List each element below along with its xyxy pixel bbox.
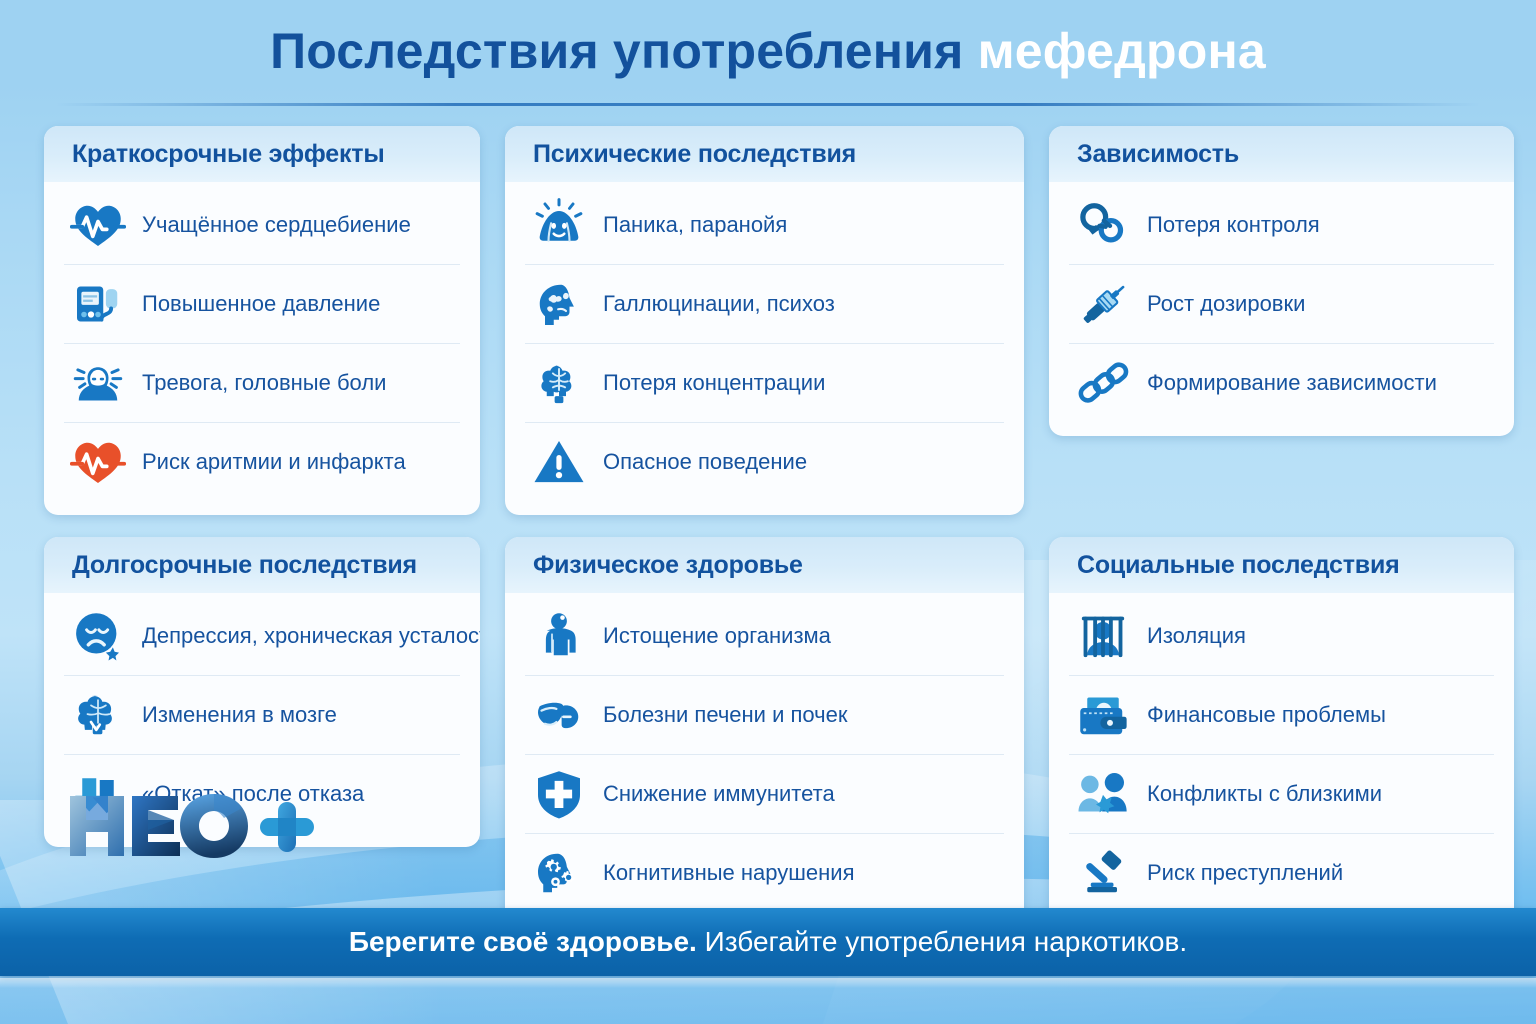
handcuffs-icon <box>1073 195 1133 255</box>
card-social-consequences: Социальные последствия Изоляция Финансов… <box>1049 537 1514 926</box>
list-item-label: Истощение организма <box>603 623 831 648</box>
list-item-label: Учащённое сердцебиение <box>142 212 411 237</box>
card-title: Психические последствия <box>533 140 1000 169</box>
syringe-icon <box>1073 274 1133 334</box>
card-mental-consequences: Психические последствия Паника, паранойя… <box>505 126 1024 515</box>
shield-cross-icon <box>529 764 589 824</box>
card-body: Паника, паранойя Галлюцинации, психоз По… <box>505 182 1024 515</box>
head-gears-icon <box>529 843 589 903</box>
list-item[interactable]: Когнитивные нарушения <box>525 834 1004 912</box>
panic-face-icon <box>529 195 589 255</box>
card-title: Зависимость <box>1077 140 1490 169</box>
list-item[interactable]: Истощение организма <box>525 597 1004 676</box>
list-item-label: Паника, паранойя <box>603 212 787 237</box>
card-header: Зависимость <box>1049 126 1514 182</box>
sad-face-icon <box>68 606 128 666</box>
card-header: Краткосрочные эффекты <box>44 126 480 182</box>
card-short-term-effects: Краткосрочные эффекты Учащённое сердцеби… <box>44 126 480 515</box>
list-item-label: Изменения в мозге <box>142 702 337 727</box>
card-header: Психические последствия <box>505 126 1024 182</box>
card-body: Потеря контроля Рост дозировки Формирова… <box>1049 182 1514 436</box>
heart-attack-icon <box>68 432 128 492</box>
list-item-label: Риск аритмии и инфаркта <box>142 449 406 474</box>
list-item-label: Изоляция <box>1147 623 1246 648</box>
list-item[interactable]: Снижение иммунитета <box>525 755 1004 834</box>
list-item[interactable]: Формирование зависимости <box>1069 344 1494 422</box>
page-title: Последствия употребления мефедрона <box>0 22 1536 80</box>
card-header: Физическое здоровье <box>505 537 1024 593</box>
list-item[interactable]: Потеря концентрации <box>525 344 1004 423</box>
list-item[interactable]: Риск преступлений <box>1069 834 1494 912</box>
list-item-label: Рост дозировки <box>1147 291 1305 316</box>
card-body: Учащённое сердцебиение Повышенное давлен… <box>44 182 480 515</box>
chain-link-icon <box>1073 353 1133 413</box>
title-divider <box>56 103 1480 106</box>
headache-person-icon <box>68 353 128 413</box>
infographic-poster: Последствия употребления мефедрона Кратк… <box>0 0 1536 1024</box>
list-item[interactable]: Рост дозировки <box>1069 265 1494 344</box>
list-item[interactable]: Учащённое сердцебиение <box>64 186 460 265</box>
wallet-icon <box>1073 685 1133 745</box>
footer-banner: Берегите своё здоровье. Избегайте употре… <box>0 908 1536 976</box>
list-item[interactable]: Болезни печени и почек <box>525 676 1004 755</box>
list-item-label: Потеря концентрации <box>603 370 825 395</box>
list-item[interactable]: Потеря контроля <box>1069 186 1494 265</box>
brain-icon <box>529 353 589 413</box>
list-item-label: Депрессия, хроническая усталость <box>142 623 480 648</box>
list-item-label: Опасное поведение <box>603 449 807 474</box>
list-item[interactable]: Опасное поведение <box>525 423 1004 501</box>
list-item[interactable]: Тревога, головные боли <box>64 344 460 423</box>
thin-person-icon <box>529 606 589 666</box>
list-item[interactable]: Депрессия, хроническая усталость <box>64 597 460 676</box>
person-behind-bars-icon <box>1073 606 1133 666</box>
list-item[interactable]: Изменения в мозге <box>64 676 460 755</box>
footer-normal-text: Избегайте употребления наркотиков. <box>697 926 1187 957</box>
list-item-label: Финансовые проблемы <box>1147 702 1386 727</box>
list-item[interactable]: Риск аритмии и инфаркта <box>64 423 460 501</box>
footer-gloss-line <box>0 978 1536 988</box>
brain-damage-icon <box>68 685 128 745</box>
list-item-label: Конфликты с близкими <box>1147 781 1382 806</box>
list-item-label: Риск преступлений <box>1147 860 1343 885</box>
list-item-label: Повышенное давление <box>142 291 380 316</box>
footer-bold-text: Берегите своё здоровье. <box>349 926 697 957</box>
list-item[interactable]: Конфликты с близкими <box>1069 755 1494 834</box>
conflict-people-icon <box>1073 764 1133 824</box>
heart-pulse-icon <box>68 195 128 255</box>
card-dependence: Зависимость Потеря контроля Рост дозиров… <box>1049 126 1514 436</box>
list-item[interactable]: Изоляция <box>1069 597 1494 676</box>
page-title-primary: Последствия употребления <box>270 23 978 79</box>
list-item-label: Тревога, головные боли <box>142 370 386 395</box>
card-title: Физическое здоровье <box>533 551 1000 580</box>
list-item[interactable]: Галлюцинации, психоз <box>525 265 1004 344</box>
card-header: Долгосрочные последствия <box>44 537 480 593</box>
blood-pressure-monitor-icon <box>68 274 128 334</box>
warning-triangle-icon <box>529 432 589 492</box>
card-body: Истощение организма Болезни печени и поч… <box>505 593 1024 926</box>
list-item[interactable]: Повышенное давление <box>64 265 460 344</box>
liver-kidney-icon <box>529 685 589 745</box>
card-title: Социальные последствия <box>1077 551 1490 580</box>
card-body: Изоляция Финансовые проблемы Конфликты с… <box>1049 593 1514 926</box>
list-item-label: Когнитивные нарушения <box>603 860 855 885</box>
gavel-icon <box>1073 843 1133 903</box>
hallucination-head-icon <box>529 274 589 334</box>
list-item[interactable]: Паника, паранойя <box>525 186 1004 265</box>
page-title-accent: мефедрона <box>978 23 1266 79</box>
card-title: Долгосрочные последствия <box>72 551 456 580</box>
card-physical-health: Физическое здоровье Истощение организма … <box>505 537 1024 926</box>
card-header: Социальные последствия <box>1049 537 1514 593</box>
list-item-label: Потеря контроля <box>1147 212 1320 237</box>
list-item-label: Формирование зависимости <box>1147 370 1437 395</box>
list-item[interactable]: Финансовые проблемы <box>1069 676 1494 755</box>
neo-plus-logo <box>64 790 344 862</box>
list-item-label: Болезни печени и почек <box>603 702 847 727</box>
list-item-label: Снижение иммунитета <box>603 781 835 806</box>
card-title: Краткосрочные эффекты <box>72 140 456 169</box>
list-item-label: Галлюцинации, психоз <box>603 291 835 316</box>
